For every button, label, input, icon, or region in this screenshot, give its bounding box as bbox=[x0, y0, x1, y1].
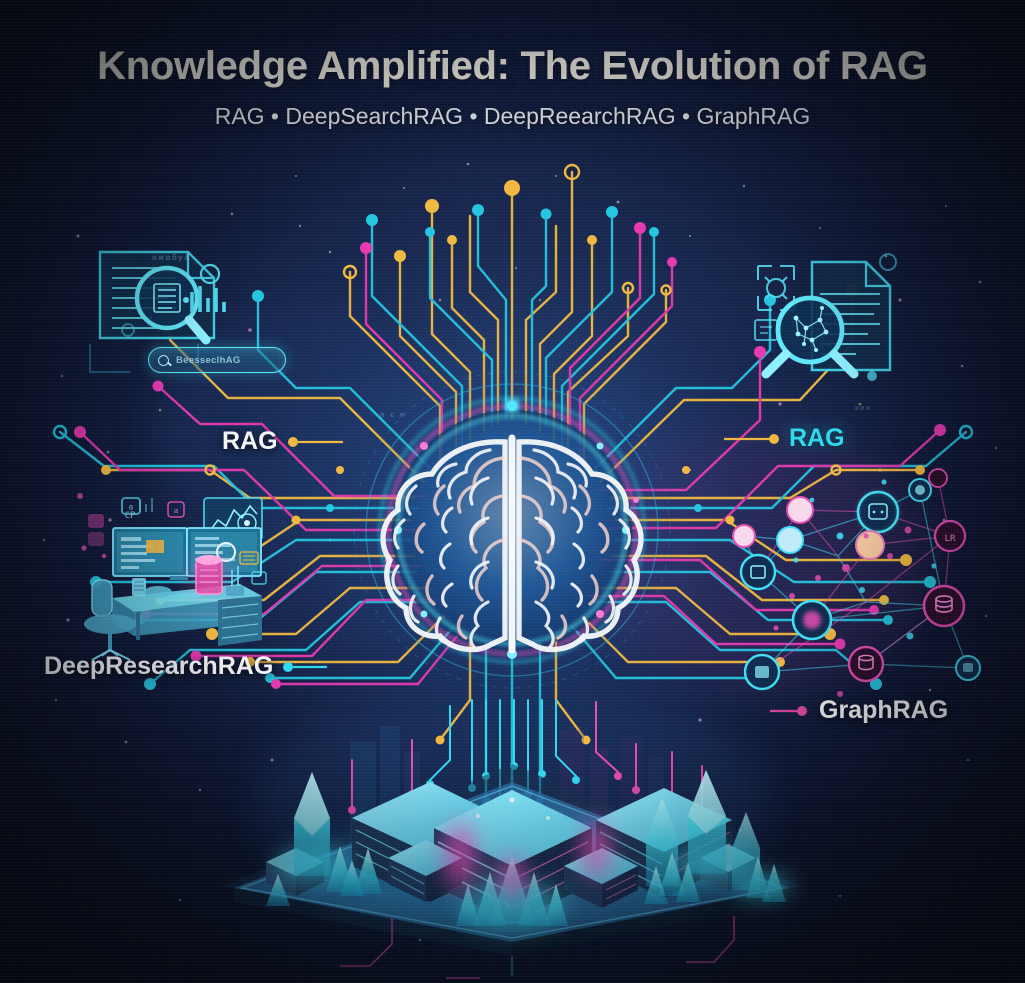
callout-connector bbox=[722, 433, 780, 445]
ghost-label-right-mid: кии bbox=[855, 405, 872, 412]
poster-canvas: LR bbox=[0, 0, 1025, 983]
callout-label: RAG bbox=[789, 424, 845, 453]
callout-label: RAG bbox=[222, 427, 278, 456]
callout-connector bbox=[287, 436, 345, 448]
callout-deepresearchrag: DeepResearchRAG bbox=[44, 652, 328, 681]
svg-text:a: a bbox=[174, 507, 178, 515]
circuit-trace-artwork: LR bbox=[0, 0, 1025, 983]
ghost-label-brain-top: n c n bbox=[380, 412, 406, 419]
page-title: Knowledge Amplified: The Evolution of RA… bbox=[0, 44, 1025, 89]
poster-header: Knowledge Amplified: The Evolution of RA… bbox=[0, 0, 1025, 130]
search-input[interactable]: BeesseclhAG bbox=[148, 347, 286, 373]
page-subtitle: RAG • DeepSearchRAG • DeepReearchRAG • G… bbox=[0, 103, 1025, 130]
search-query-text: BeesseclhAG bbox=[176, 355, 241, 366]
callout-connector bbox=[770, 705, 810, 717]
callout-label: GraphRAG bbox=[819, 696, 948, 725]
callout-graphrag: GraphRAG bbox=[770, 696, 948, 725]
svg-text:LR: LR bbox=[945, 534, 956, 544]
callout-connector bbox=[282, 661, 328, 673]
search-icon bbox=[158, 355, 169, 366]
callout-rag-right: RAG bbox=[722, 424, 845, 453]
callout-label: DeepResearchRAG bbox=[44, 652, 273, 681]
svg-text:CP: CP bbox=[125, 511, 136, 521]
callout-rag-left: RAG bbox=[222, 427, 345, 456]
ghost-label-top-left: нжвбу& bbox=[152, 253, 191, 262]
